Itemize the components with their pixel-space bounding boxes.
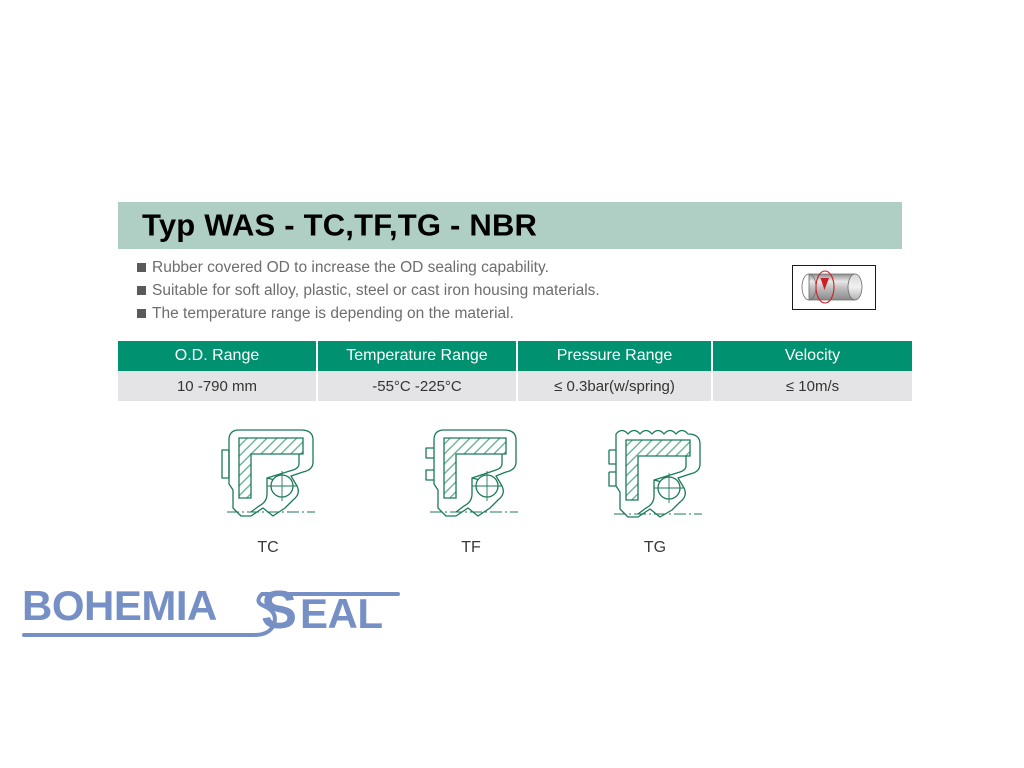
list-item: Rubber covered OD to increase the OD sea… xyxy=(137,257,757,279)
column-header-od-range: O.D. Range xyxy=(118,341,317,371)
cell-velocity: ≤ 10m/s xyxy=(712,371,912,401)
column-header-temperature-range: Temperature Range xyxy=(317,341,517,371)
cell-temperature-range: -55°C -225°C xyxy=(317,371,517,401)
page-title: Typ WAS - TC,TF,TG - NBR xyxy=(142,207,537,243)
specification-table: O.D. Range Temperature Range Pressure Ra… xyxy=(118,341,912,401)
title-banner: Typ WAS - TC,TF,TG - NBR xyxy=(118,202,902,249)
square-bullet-icon xyxy=(137,263,146,272)
seal-figure-tc: TC xyxy=(205,420,331,557)
rotating-shaft-icon xyxy=(792,265,876,310)
list-item-label: The temperature range is depending on th… xyxy=(152,303,514,324)
bohemia-seal-logo: BOHEMIA S EAL xyxy=(18,578,418,644)
company-logo: BOHEMIA S EAL xyxy=(18,578,418,644)
column-header-pressure-range: Pressure Range xyxy=(517,341,712,371)
cell-od-range: 10 -790 mm xyxy=(118,371,317,401)
square-bullet-icon xyxy=(137,309,146,318)
list-item-label: Suitable for soft alloy, plastic, steel … xyxy=(152,280,600,301)
list-item: The temperature range is depending on th… xyxy=(137,303,757,325)
seal-figure-tf: TF xyxy=(408,420,534,557)
seal-diagram-tg xyxy=(592,420,718,532)
feature-list: Rubber covered OD to increase the OD sea… xyxy=(137,257,757,326)
table-header-row: O.D. Range Temperature Range Pressure Ra… xyxy=(118,341,912,371)
seal-label-tf: TF xyxy=(408,539,534,557)
list-item-label: Rubber covered OD to increase the OD sea… xyxy=(152,257,549,278)
table-row: 10 -790 mm -55°C -225°C ≤ 0.3bar(w/sprin… xyxy=(118,371,912,401)
seal-figure-tg: TG xyxy=(592,420,718,557)
square-bullet-icon xyxy=(137,286,146,295)
seal-diagram-tf xyxy=(408,420,534,532)
cell-pressure-range: ≤ 0.3bar(w/spring) xyxy=(517,371,712,401)
seal-diagram-tc xyxy=(205,420,331,532)
seal-label-tc: TC xyxy=(205,539,331,557)
list-item: Suitable for soft alloy, plastic, steel … xyxy=(137,280,757,302)
logo-secondary-text: EAL xyxy=(300,590,383,637)
seal-label-tg: TG xyxy=(592,539,718,557)
column-header-velocity: Velocity xyxy=(712,341,912,371)
rotating-shaft-glyph xyxy=(793,266,874,308)
logo-primary-text: BOHEMIA xyxy=(22,582,217,629)
